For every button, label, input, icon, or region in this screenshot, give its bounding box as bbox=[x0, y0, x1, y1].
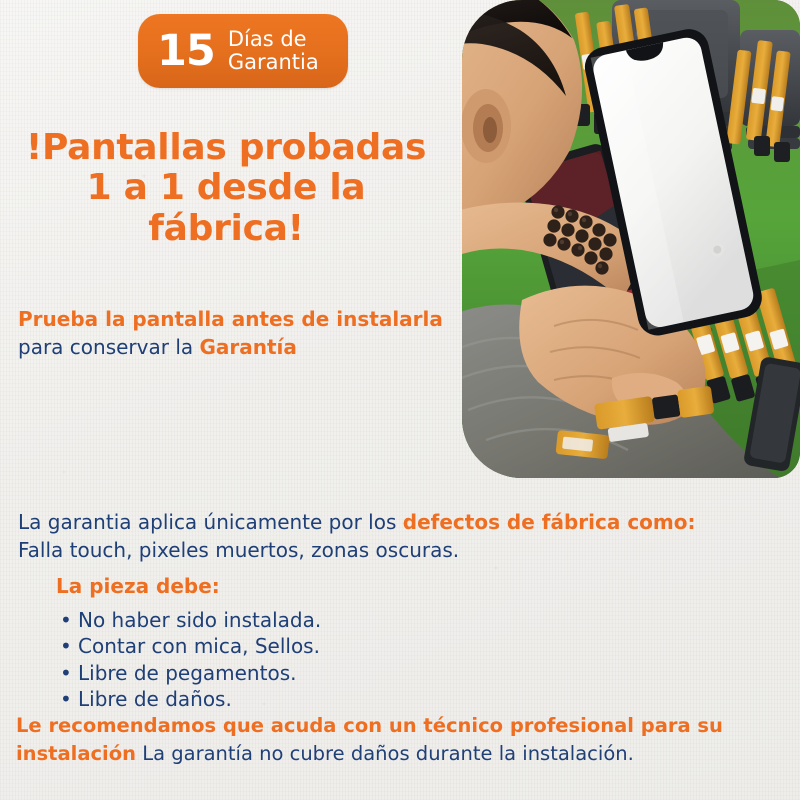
list-item: Libre de daños. bbox=[56, 686, 476, 712]
badge-label: Días de Garantia bbox=[228, 28, 319, 73]
installation-recommendation: Le recomendamos que acuda con un técnico… bbox=[16, 712, 786, 767]
warranty-scope-prefix: La garantia aplica únicamente por los bbox=[18, 510, 403, 534]
headline-line-2: 1 a 1 desde la bbox=[0, 168, 452, 208]
headline-line-3: fábrica! bbox=[0, 209, 452, 249]
subhead-orange-line: Prueba la pantalla antes de instalarla bbox=[18, 306, 458, 334]
warranty-days-badge: 15 Días de Garantia bbox=[138, 14, 348, 88]
technician-testing-screen-photo: A65 bbox=[462, 0, 800, 478]
piece-requirements-list: No haber sido instalada. Contar con mica… bbox=[56, 607, 476, 713]
list-item: Libre de pegamentos. bbox=[56, 660, 476, 686]
subhead-blue-prefix: para conservar la bbox=[18, 335, 199, 359]
warranty-scope-highlight: defectos de fábrica como: bbox=[403, 510, 696, 534]
piece-requirements-section: La pieza debe: No haber sido instalada. … bbox=[56, 574, 476, 713]
warranty-scope-line2: Falla touch, pixeles muertos, zonas oscu… bbox=[18, 538, 459, 562]
headline-line-1: !Pantallas probadas bbox=[0, 128, 452, 168]
subhead-blue-line: para conservar la Garantía bbox=[18, 334, 458, 362]
badge-days-number: 15 bbox=[157, 30, 215, 73]
list-item: Contar con mica, Sellos. bbox=[56, 633, 476, 659]
list-item: No haber sido instalada. bbox=[56, 607, 476, 633]
piece-requirements-heading: La pieza debe: bbox=[56, 574, 476, 598]
main-headline: !Pantallas probadas 1 a 1 desde la fábri… bbox=[0, 128, 452, 249]
badge-label-line2: Garantia bbox=[228, 51, 319, 74]
subhead-warranty-word: Garantía bbox=[199, 335, 296, 359]
warranty-scope-text: La garantia aplica únicamente por los de… bbox=[18, 508, 782, 565]
recommendation-blue-text: La garantía no cubre daños durante la in… bbox=[136, 742, 634, 765]
badge-label-line1: Días de bbox=[228, 28, 319, 51]
photo-illustration: A65 bbox=[462, 0, 800, 478]
subheadline: Prueba la pantalla antes de instalarla p… bbox=[18, 306, 458, 361]
